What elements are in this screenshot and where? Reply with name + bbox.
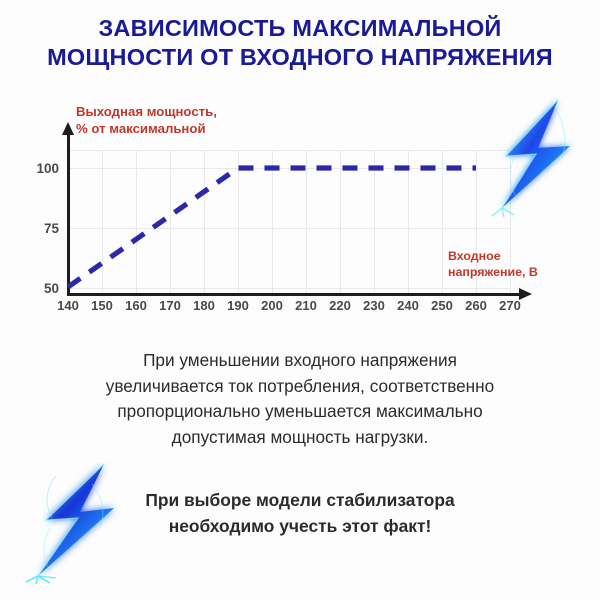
x-axis-line	[67, 293, 522, 296]
gridline-vertical	[170, 150, 171, 294]
gridline-vertical	[442, 150, 443, 294]
x-tick-label-250: 250	[425, 298, 459, 313]
callout-line-1: При выборе модели стабилизатора	[0, 487, 600, 513]
x-tick-label-210: 210	[289, 298, 323, 313]
gridline-vertical	[136, 150, 137, 294]
gridline-horizontal	[68, 168, 510, 169]
callout-line-2: необходимо учесть этот факт!	[0, 513, 600, 539]
power-vs-voltage-chart: Выходная мощность,% от максимальной Вход…	[0, 95, 600, 320]
x-tick-label-260: 260	[459, 298, 493, 313]
x-tick-label-180: 180	[187, 298, 221, 313]
gridline-vertical	[238, 150, 239, 294]
chart-plot-area	[68, 150, 510, 294]
y-tick-label-75: 75	[3, 221, 59, 236]
x-axis-title-line-1: Входное	[448, 249, 501, 263]
y-axis-title: Выходная мощность,% от максимальной	[76, 103, 217, 137]
gridline-vertical	[272, 150, 273, 294]
x-tick-label-270: 270	[493, 298, 527, 313]
gridline-horizontal	[68, 288, 510, 289]
gridline-horizontal	[68, 228, 510, 229]
y-axis-title-line-2: % от максимальной	[76, 121, 206, 136]
x-tick-label-230: 230	[357, 298, 391, 313]
y-axis-line	[67, 133, 70, 294]
description-line-2: увеличивается ток потребления, соответст…	[0, 374, 600, 400]
x-tick-label-140: 140	[51, 298, 85, 313]
x-tick-label-200: 200	[255, 298, 289, 313]
gridline-horizontal	[68, 150, 510, 151]
y-tick-label-50: 50	[3, 281, 59, 296]
x-tick-label-240: 240	[391, 298, 425, 313]
gridline-vertical	[340, 150, 341, 294]
poster-root: Зависимость максимальной мощности от вхо…	[0, 0, 600, 600]
description-line-4: допустимая мощность нагрузки.	[0, 425, 600, 451]
x-tick-label-150: 150	[85, 298, 119, 313]
y-axis-arrow-icon	[62, 122, 74, 135]
gridline-vertical	[102, 150, 103, 294]
gridline-vertical	[306, 150, 307, 294]
description-line-3: пропорционально уменьшается максимально	[0, 399, 600, 425]
callout-paragraph: При выборе модели стабилизатора необходи…	[0, 487, 600, 539]
y-tick-label-100: 100	[3, 161, 59, 176]
description-line-1: При уменьшении входного напряжения	[0, 348, 600, 374]
description-paragraph: При уменьшении входного напряжения увели…	[0, 348, 600, 450]
page-title-line-2: мощности от входного напряжения	[0, 43, 600, 72]
y-axis-title-line-1: Выходная мощность,	[76, 104, 217, 119]
gridline-vertical	[374, 150, 375, 294]
x-axis-title-line-2: напряжение, В	[448, 265, 538, 279]
gridline-vertical	[204, 150, 205, 294]
page-title-line-1: Зависимость максимальной	[0, 14, 600, 43]
x-tick-label-170: 170	[153, 298, 187, 313]
x-tick-label-160: 160	[119, 298, 153, 313]
x-axis-title: Входноенапряжение, В	[448, 248, 538, 280]
gridline-vertical	[408, 150, 409, 294]
x-tick-label-190: 190	[221, 298, 255, 313]
page-title: Зависимость максимальной мощности от вхо…	[0, 14, 600, 72]
x-tick-label-220: 220	[323, 298, 357, 313]
